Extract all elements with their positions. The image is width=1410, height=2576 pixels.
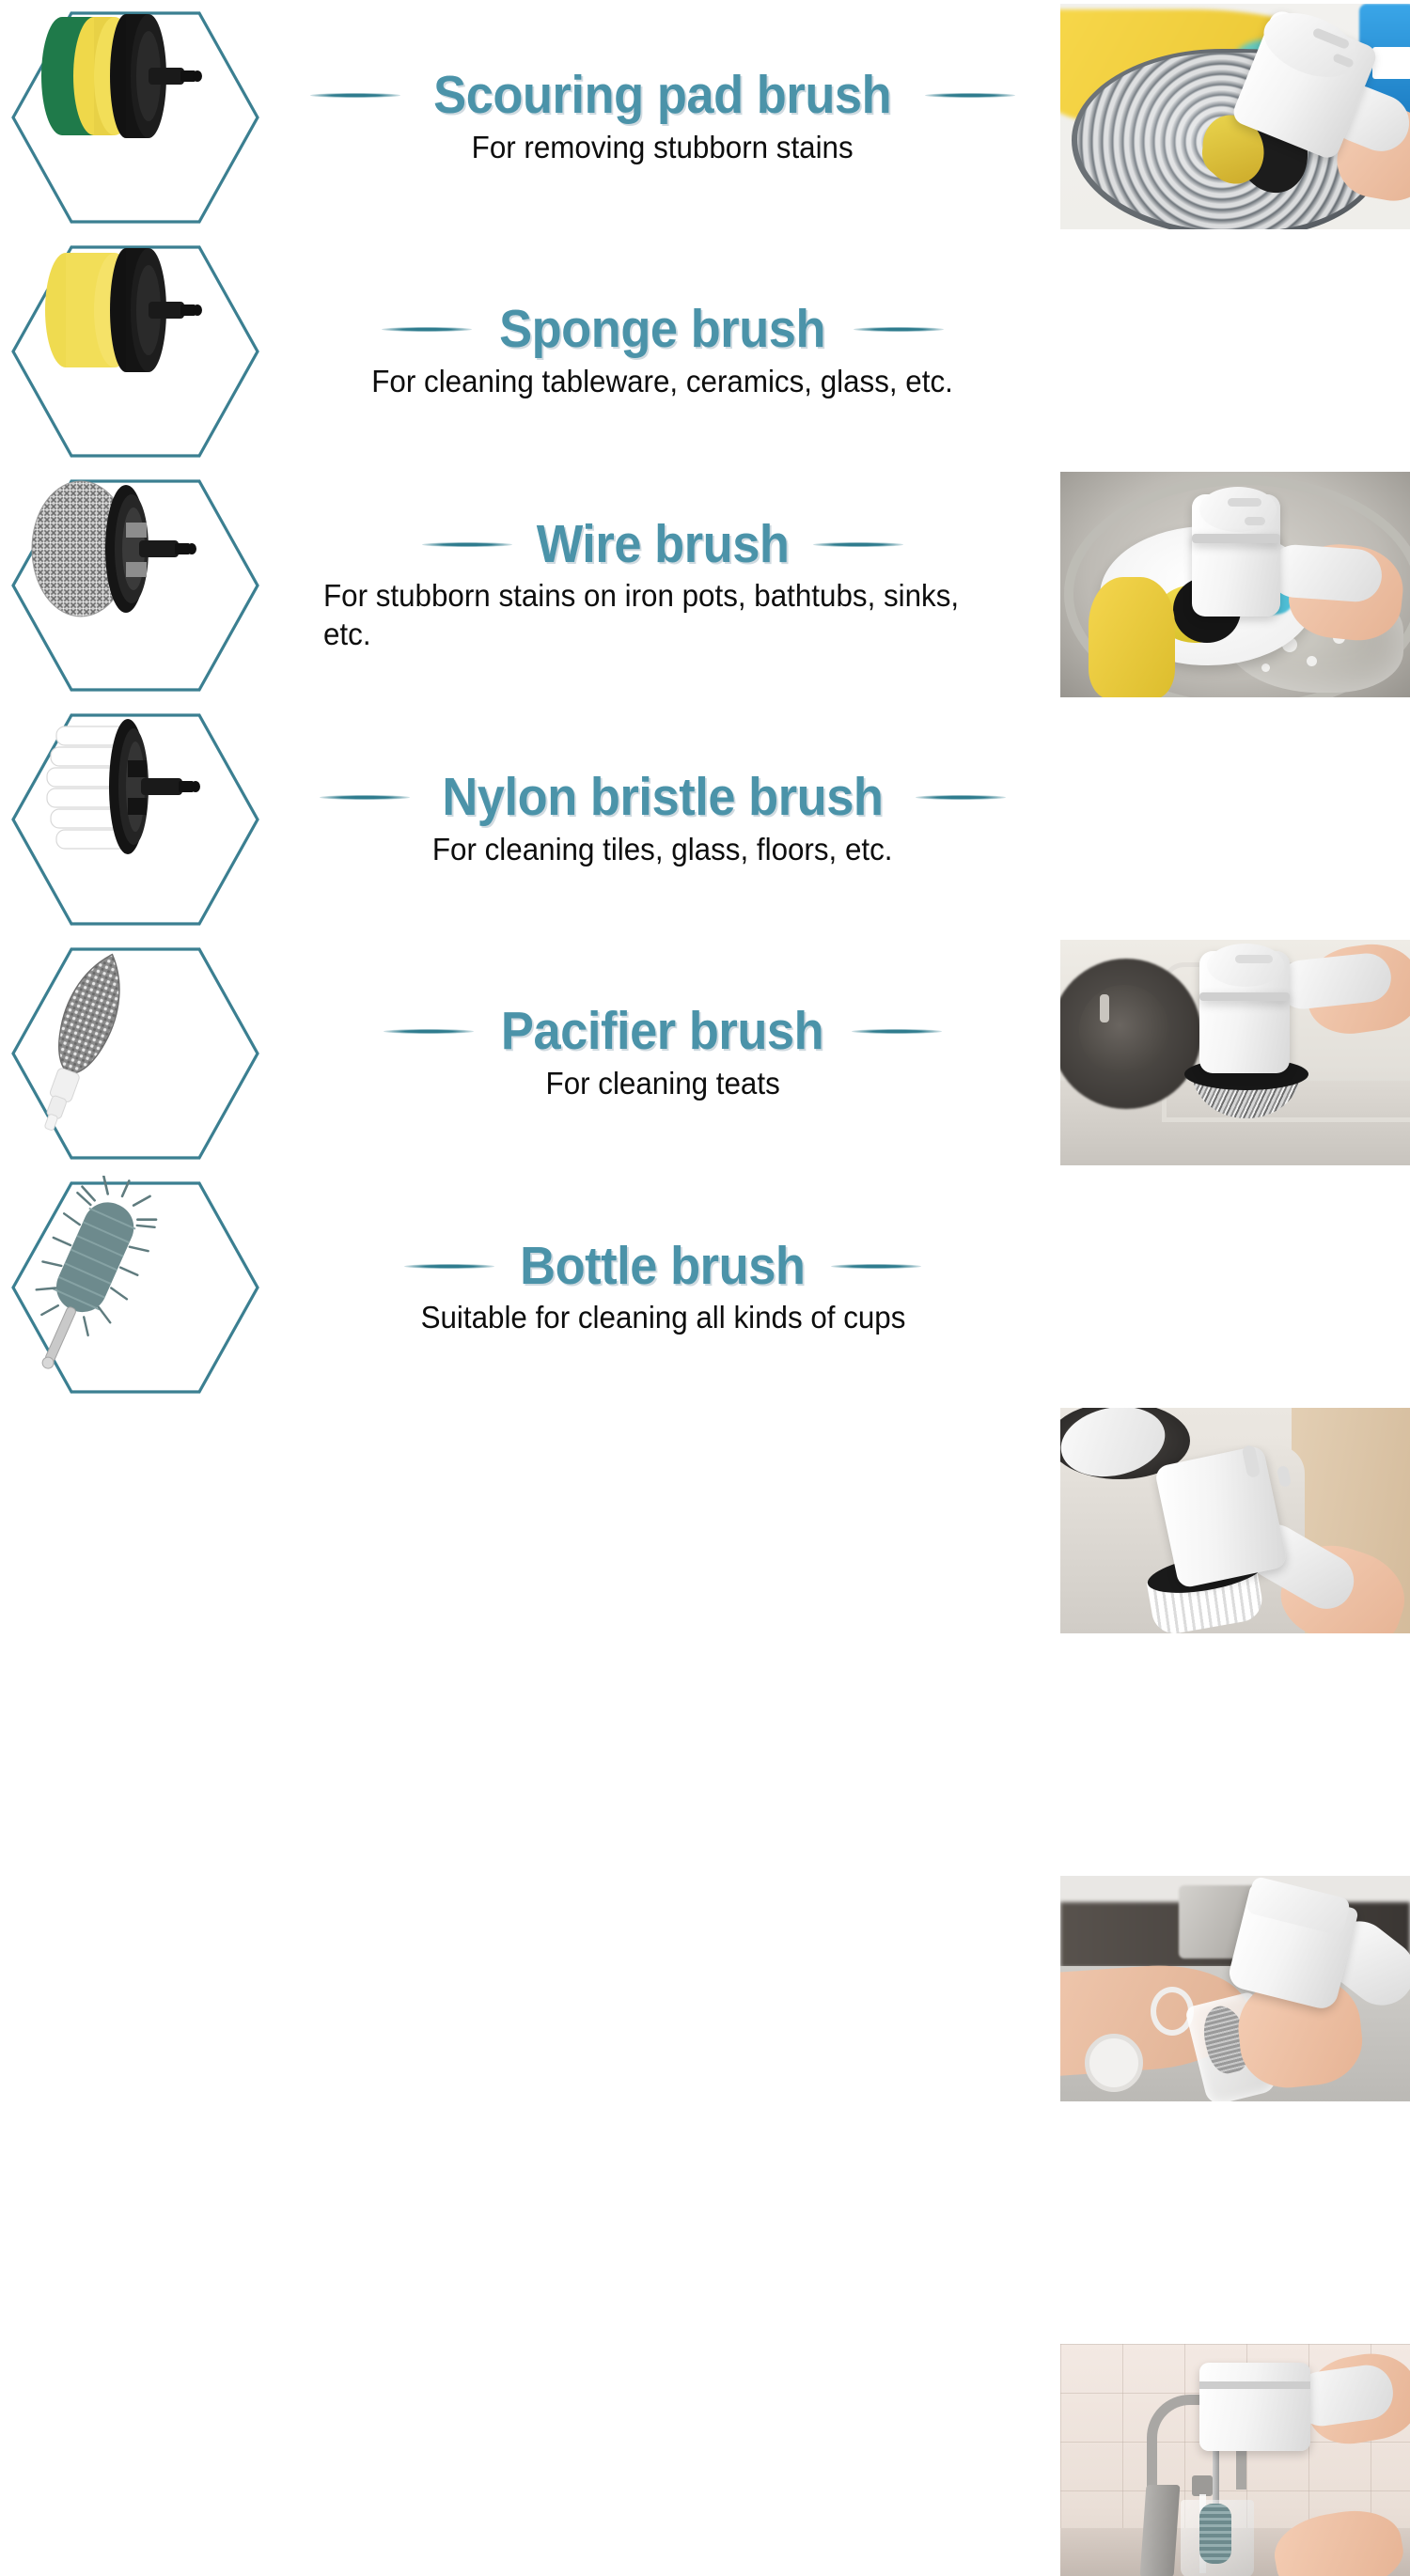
hex-badge-scouring-pad-brush	[8, 6, 263, 229]
dash-left-icon	[310, 93, 400, 98]
dash-right-icon	[852, 1029, 942, 1034]
dash-right-icon	[925, 93, 1015, 98]
photo-pacifier-brush-in-use	[1060, 1876, 1410, 2101]
product-image-nylon-bristle-brush	[8, 708, 263, 931]
section-title: Sponge brush	[499, 302, 825, 356]
title-with-dashes: Nylon bristle brush	[273, 770, 1053, 824]
section-title: Scouring pad brush	[433, 68, 891, 122]
section-description: For stubborn stains on iron pots, bathtu…	[323, 577, 1002, 653]
hex-badge-wire-brush	[8, 474, 263, 697]
section-row: Wire brush For stubborn stains on iron p…	[0, 468, 1410, 702]
section-description: For cleaning tableware, ceramics, glass,…	[372, 363, 954, 400]
section-title: Nylon bristle brush	[442, 770, 883, 824]
photo-nylon-bristle-brush-in-use	[1060, 1408, 1410, 1633]
section-text-wire-brush: Wire brush For stubborn stains on iron p…	[273, 468, 1053, 702]
dash-left-icon	[382, 327, 472, 332]
dash-left-icon	[384, 1029, 474, 1034]
title-with-dashes: Sponge brush	[273, 302, 1053, 356]
section-text-scouring-pad-brush: Scouring pad brush For removing stubborn…	[273, 0, 1053, 234]
photo-scouring-pad-in-use	[1060, 4, 1410, 229]
title-with-dashes: Wire brush	[273, 517, 1053, 571]
hex-badge-sponge-brush	[8, 240, 263, 463]
section-title: Bottle brush	[520, 1239, 805, 1293]
dash-right-icon	[916, 795, 1006, 800]
product-image-bottle-brush	[8, 1176, 263, 1399]
section-description: For cleaning teats	[545, 1065, 779, 1102]
section-text-bottle-brush: Bottle brush Suitable for cleaning all k…	[273, 1170, 1053, 1406]
section-row: Bottle brush Suitable for cleaning all k…	[0, 1170, 1410, 1406]
product-image-scouring-pad-brush	[8, 6, 263, 229]
section-title: Wire brush	[537, 517, 790, 571]
section-description: For removing stubborn stains	[472, 129, 854, 166]
section-text-nylon-bristle-brush: Nylon bristle brush For cleaning tiles, …	[273, 702, 1053, 936]
section-title: Pacifier brush	[501, 1004, 823, 1058]
product-image-sponge-brush	[8, 240, 263, 463]
dash-right-icon	[831, 1264, 921, 1269]
section-description: Suitable for cleaning all kinds of cups	[420, 1299, 905, 1336]
section-text-pacifier-brush: Pacifier brush For cleaning teats	[273, 936, 1053, 1170]
photo-bottle-brush-in-use	[1060, 2344, 1410, 2576]
dash-left-icon	[404, 1264, 494, 1269]
section-row: Nylon bristle brush For cleaning tiles, …	[0, 702, 1410, 936]
section-description: For cleaning tiles, glass, floors, etc.	[432, 831, 893, 868]
title-with-dashes: Scouring pad brush	[273, 68, 1053, 122]
hex-badge-nylon-bristle-brush	[8, 708, 263, 931]
section-row: Pacifier brush For cleaning teats	[0, 936, 1410, 1170]
title-with-dashes: Bottle brush	[273, 1239, 1053, 1293]
title-with-dashes: Pacifier brush	[273, 1004, 1053, 1058]
dash-left-icon	[422, 542, 512, 547]
dash-right-icon	[813, 542, 903, 547]
product-image-pacifier-brush	[8, 942, 263, 1165]
dash-left-icon	[320, 795, 410, 800]
infographic-page: Scouring pad brush For removing stubborn…	[0, 0, 1410, 1406]
dash-right-icon	[854, 327, 944, 332]
section-text-sponge-brush: Sponge brush For cleaning tableware, cer…	[273, 234, 1053, 468]
section-row: Sponge brush For cleaning tableware, cer…	[0, 234, 1410, 468]
section-row: Scouring pad brush For removing stubborn…	[0, 0, 1410, 234]
hex-badge-pacifier-brush	[8, 942, 263, 1165]
hex-badge-bottle-brush	[8, 1176, 263, 1399]
product-image-wire-brush	[8, 474, 263, 697]
